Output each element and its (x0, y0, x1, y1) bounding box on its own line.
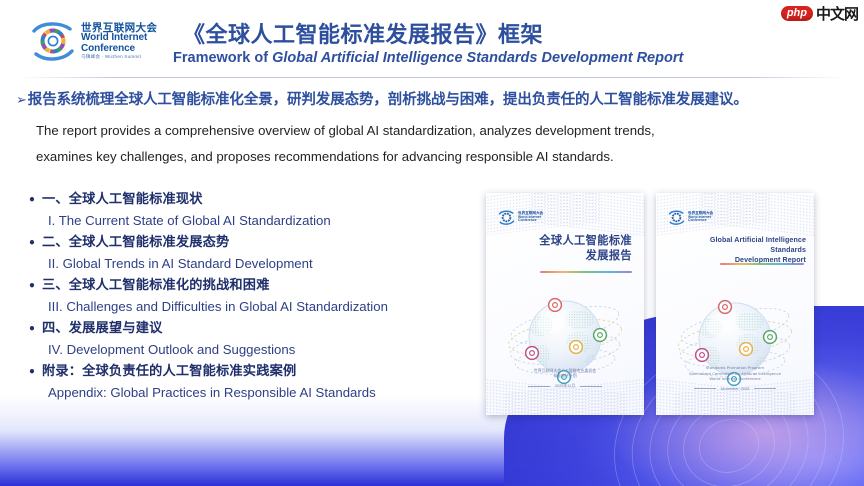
arrow-bullet-icon: ➢ (16, 93, 27, 108)
lead-paragraph-en: The report provides a comprehensive over… (36, 118, 826, 171)
cover-wic-logo: 世界互联网大会 World Internet Conference (498, 209, 543, 226)
lead-text-en-line2: examines key challenges, and proposes re… (36, 144, 826, 170)
cover-wic-logo-text: 世界互联网大会 World Internet Conference (518, 212, 543, 223)
outline-item-3[interactable]: • 三、全球人工智能标准化的挑战和困难 III. Challenges and … (22, 276, 477, 317)
site-watermark: php 中文网 (781, 3, 858, 24)
cover-title-line2: 发展报告 (514, 248, 632, 263)
wic-logo: 世界互联网大会 World Internet Conference 乌镇峰会 ·… (30, 17, 180, 65)
watermark-label: 中文网 (816, 3, 858, 24)
cover-footer-chinese: 世界互联网大会人工智能专业委员会 标准推进计划 2025年11月 (486, 368, 644, 389)
lead-text-cn: 报告系统梳理全球人工智能标准化全景，研判发展态势，剖析挑战与困难，提出负责任的人… (28, 92, 748, 108)
php-badge-icon: php (781, 6, 813, 21)
page-title-en: Framework of Global Artificial Intellige… (173, 50, 683, 66)
outline-item-1-en: I. The Current State of Global AI Standa… (48, 210, 477, 231)
outline-item-2-cn-row: • 二、全球人工智能标准发展态势 (22, 233, 477, 253)
outline-item-4-cn: 四、发展展望与建议 (42, 319, 163, 339)
slide-canvas: php 中文网 (0, 0, 864, 486)
cover-title-line1: 全球人工智能标准 (514, 233, 632, 248)
cover-footer-line2: 标准推进计划 (486, 373, 644, 379)
outline-item-5-cn-row: • 附录：全球负责任的人工智能标准实践案例 (22, 362, 477, 382)
date-rule-left (694, 388, 716, 389)
cover-logo-en2: Conference (688, 219, 713, 223)
wic-logo-icon (30, 18, 76, 64)
wic-logo-en-line1: World Internet (81, 33, 157, 43)
cover-wic-logo-icon (668, 209, 685, 226)
bullet-icon: • (22, 319, 42, 339)
bullet-icon: • (22, 190, 42, 210)
report-cover-english[interactable]: 世界互联网大会 World Internet Conference Global… (656, 193, 814, 415)
date-rule-right (580, 386, 602, 387)
report-cover-chinese[interactable]: 世界互联网大会 World Internet Conference 全球人工智能… (486, 193, 644, 415)
page-title-cn: 《全球人工智能标准发展报告》框架 (183, 17, 543, 49)
outline-item-1-cn: 一、全球人工智能标准现状 (42, 190, 203, 210)
cover-wic-logo-text: 世界互联网大会 World Internet Conference (688, 212, 713, 223)
bullet-icon: • (22, 233, 42, 253)
cover-wic-logo-icon (498, 209, 515, 226)
cover-accent-rule (540, 271, 632, 273)
cover-logo-en2: Conference (518, 219, 543, 223)
cover-date: 2025年11月 (555, 383, 575, 389)
outline-item-2-en: II. Global Trends in AI Standard Develop… (48, 253, 477, 274)
bullet-icon: • (22, 362, 42, 382)
page-title-en-italic: Global Artificial Intelligence Standards… (272, 50, 683, 66)
outline-item-4-cn-row: • 四、发展展望与建议 (22, 319, 477, 339)
header-divider (20, 77, 844, 78)
date-rule-left (528, 386, 550, 387)
outline-item-3-en: III. Challenges and Difficulties in Glob… (48, 296, 477, 317)
outline-item-5-en: Appendix: Global Practices in Responsibl… (48, 382, 477, 403)
cover-date: November, 2025 (721, 386, 750, 391)
cover-date-row: 2025年11月 (486, 383, 644, 389)
outline-item-4-en: IV. Development Outlook and Suggestions (48, 339, 477, 360)
lead-paragraph-cn: ➢报告系统梳理全球人工智能标准化全景，研判发展态势，剖析挑战与困难，提出负责任的… (16, 88, 852, 109)
outline-item-1-cn-row: • 一、全球人工智能标准现状 (22, 190, 477, 210)
outline-item-5-cn: 附录：全球负责任的人工智能标准实践案例 (42, 362, 296, 382)
outline-item-2-cn: 二、全球人工智能标准发展态势 (42, 233, 229, 253)
cover-wic-logo: 世界互联网大会 World Internet Conference (668, 209, 713, 226)
bullet-icon: • (22, 276, 42, 296)
outline-item-2[interactable]: • 二、全球人工智能标准发展态势 II. Global Trends in AI… (22, 233, 477, 274)
cover-title-chinese: 全球人工智能标准 发展报告 (514, 233, 632, 263)
outline-item-3-cn-row: • 三、全球人工智能标准化的挑战和困难 (22, 276, 477, 296)
wic-logo-en-line2: Conference (81, 44, 157, 54)
cover-accent-rule (720, 263, 804, 265)
wic-logo-text: 世界互联网大会 World Internet Conference 乌镇峰会 ·… (81, 23, 157, 60)
wic-logo-subtitle: 乌镇峰会 · Wuzhen Summit (81, 55, 157, 60)
page-title-en-prefix: Framework of (173, 50, 272, 66)
lead-text-en-line1: The report provides a comprehensive over… (36, 118, 826, 144)
outline-list: • 一、全球人工智能标准现状 I. The Current State of G… (22, 190, 477, 405)
cover-footer-english: Standards Promotion Program Specialized … (656, 365, 814, 391)
cover-title-english: Global Artificial Intelligence Standards… (680, 235, 806, 265)
cover-date-row: November, 2025 (656, 386, 814, 391)
slide-header: php 中文网 (0, 0, 864, 78)
outline-item-3-cn: 三、全球人工智能标准化的挑战和困难 (42, 276, 270, 296)
outline-item-4[interactable]: • 四、发展展望与建议 IV. Development Outlook and … (22, 319, 477, 360)
outline-item-1[interactable]: • 一、全球人工智能标准现状 I. The Current State of G… (22, 190, 477, 231)
cover-title-line1: Global Artificial Intelligence Standards (680, 235, 806, 255)
outline-item-5[interactable]: • 附录：全球负责任的人工智能标准实践案例 Appendix: Global P… (22, 362, 477, 403)
date-rule-right (754, 388, 776, 389)
cover-footer-line3: World Internet Conference (656, 376, 814, 382)
